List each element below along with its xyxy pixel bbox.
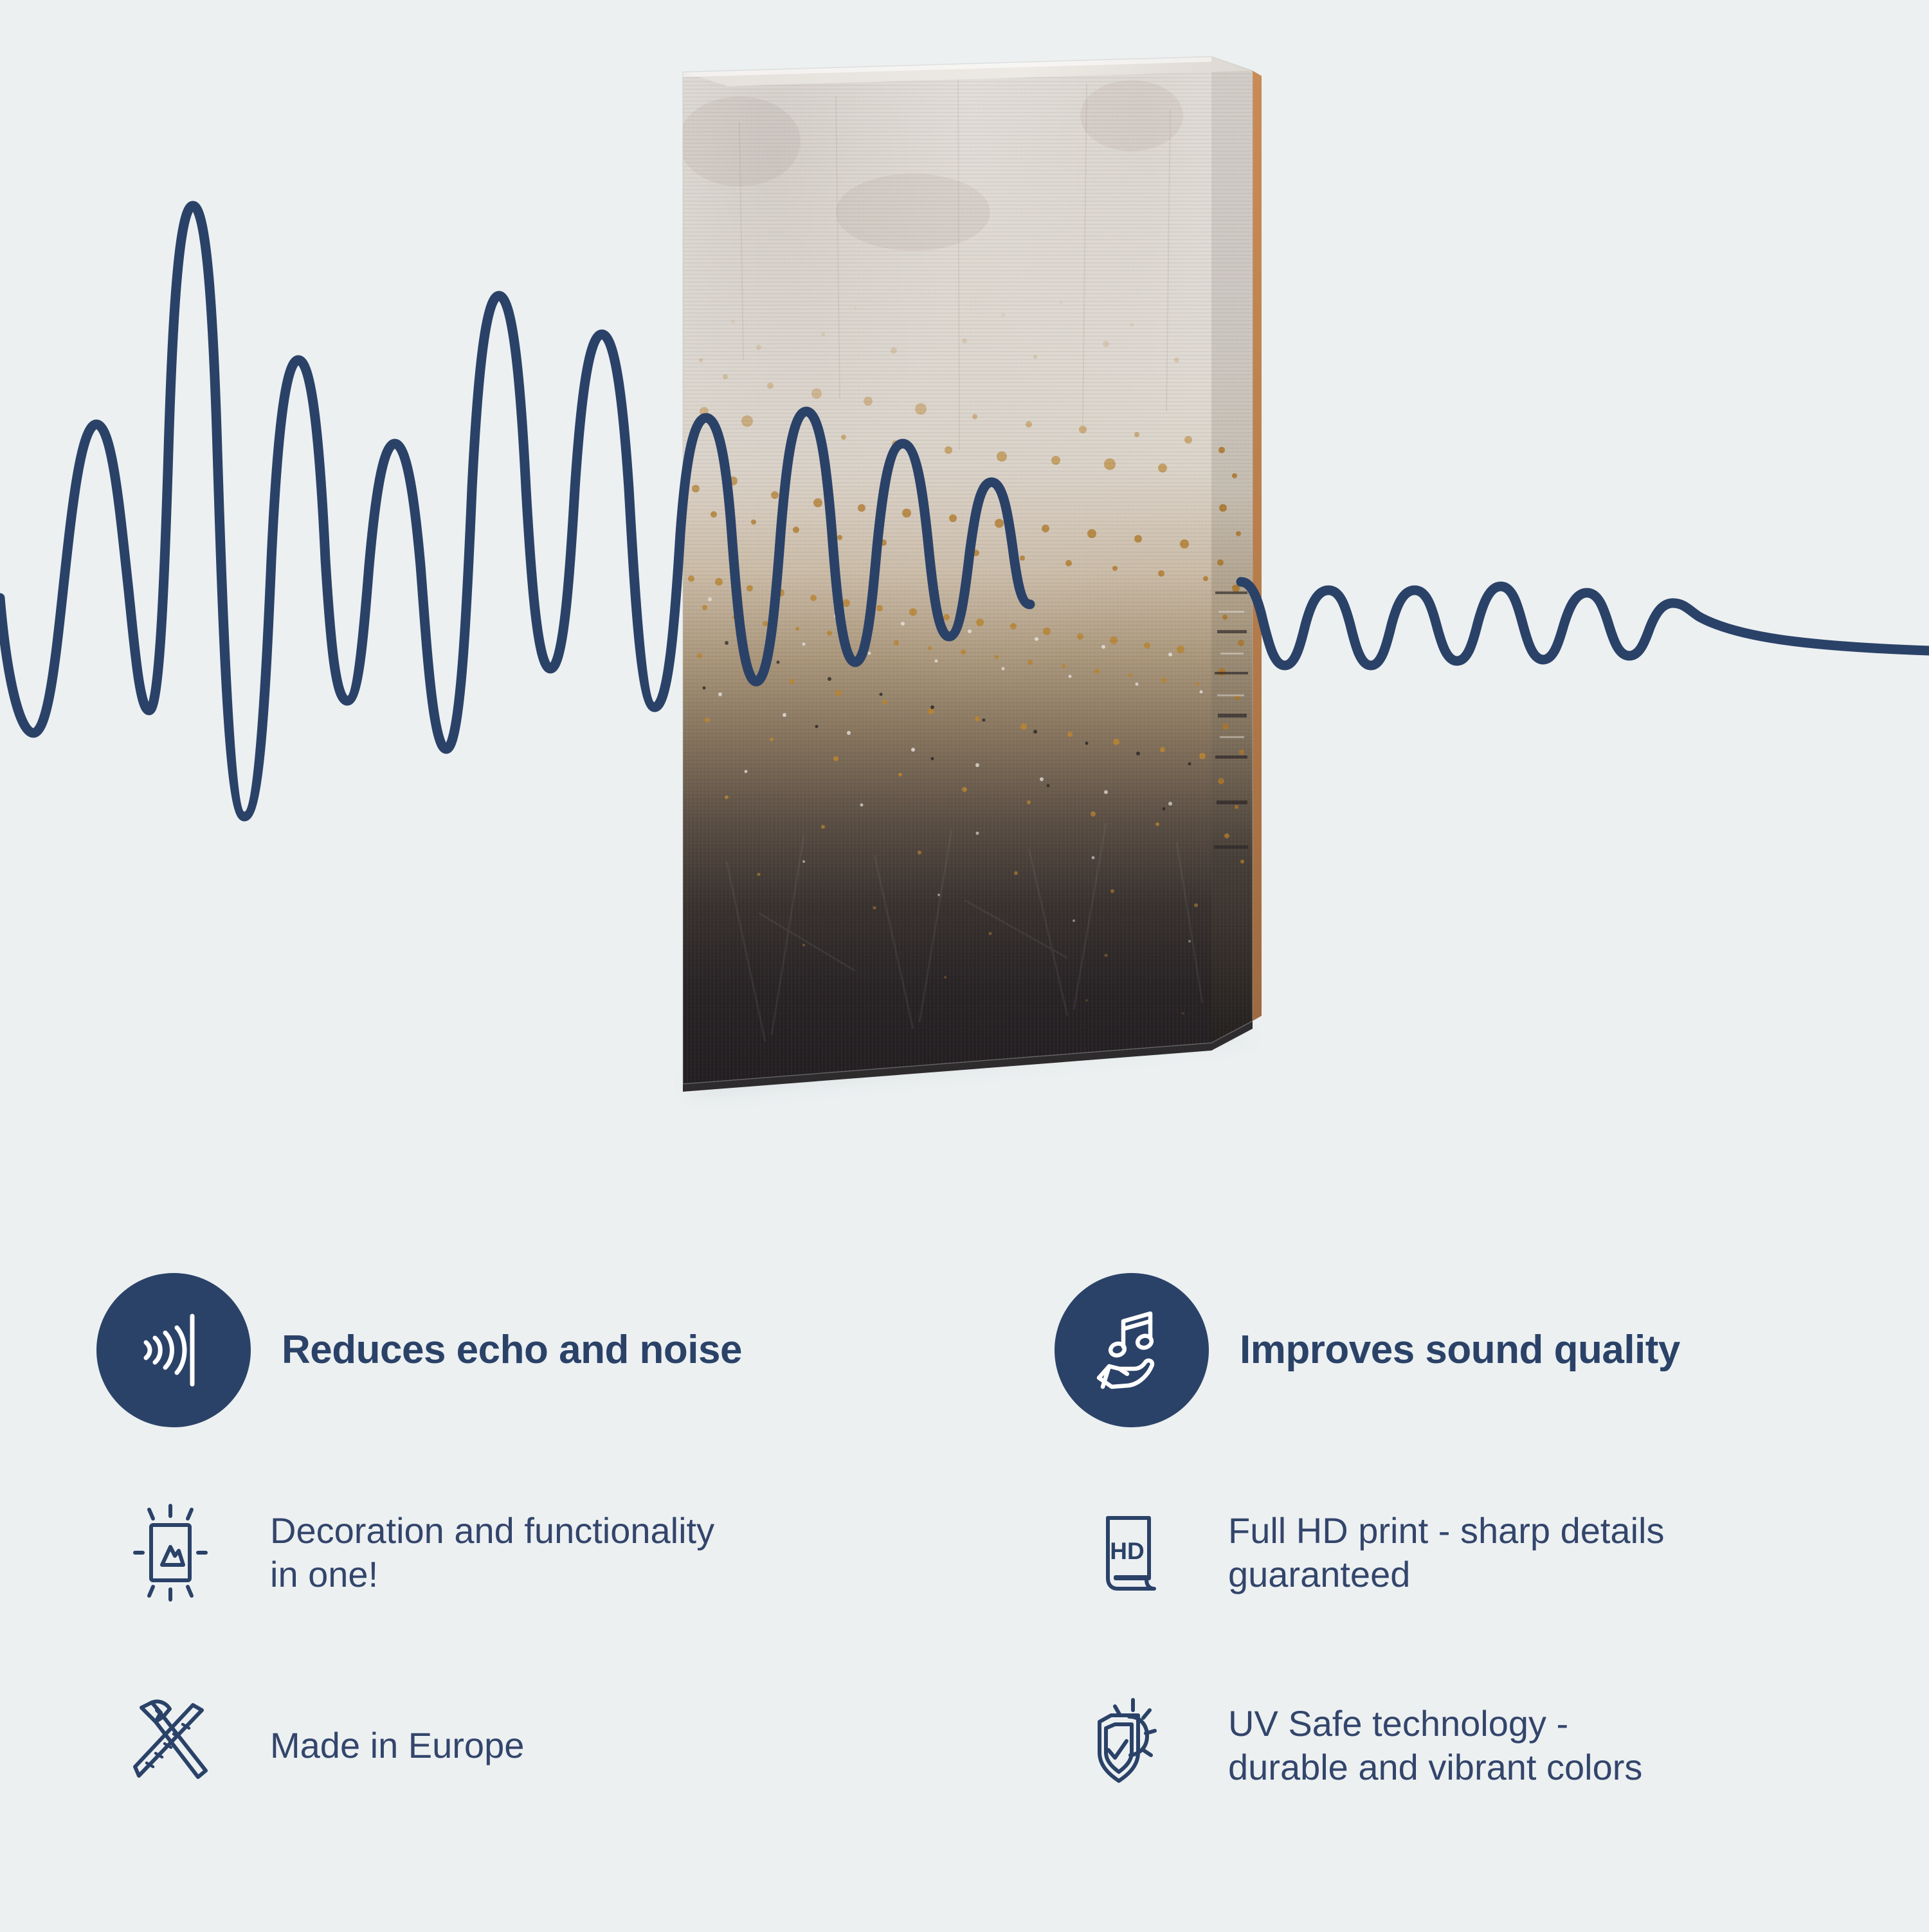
hand-music-note-icon <box>1083 1302 1180 1398</box>
feature-decoration-functionality: Decoration and functionality in one! <box>96 1456 1055 1649</box>
feature-list: Reduces echo and noise <box>96 1244 1858 1842</box>
hd-print-wrap: HD <box>1055 1479 1202 1627</box>
feature-label-reduces-echo: Reduces echo and noise <box>282 1329 742 1371</box>
hd-print-icon: HD <box>1077 1501 1180 1604</box>
feature-improves-sound: Improves sound quality <box>1055 1244 1858 1456</box>
hand-music-note-badge <box>1055 1273 1209 1427</box>
feature-label-line: UV Safe technology - <box>1228 1702 1642 1746</box>
sound-waves-icon <box>125 1302 222 1398</box>
feature-label-line: Full HD print - sharp details <box>1228 1509 1664 1553</box>
ruler-hammer-icon <box>116 1691 225 1800</box>
shining-picture-frame-icon <box>116 1498 225 1607</box>
shield-sun-icon <box>1074 1691 1183 1800</box>
ruler-hammer-wrap <box>96 1672 244 1819</box>
feature-label-made-in-europe: Made in Europe <box>270 1724 524 1767</box>
shining-picture-frame-wrap <box>96 1479 244 1627</box>
feature-label-line: Made in Europe <box>270 1724 524 1767</box>
feature-made-in-europe: Made in Europe <box>96 1649 1055 1842</box>
feature-full-hd-print: HD Full HD print - sharp details guarant… <box>1055 1456 1858 1649</box>
feature-label-uv-safe: UV Safe technology - durable and vibrant… <box>1228 1702 1642 1790</box>
shield-sun-wrap <box>1055 1672 1202 1819</box>
feature-label-line: durable and vibrant colors <box>1228 1746 1642 1789</box>
sound-waves-badge <box>96 1273 251 1427</box>
feature-reduces-echo: Reduces echo and noise <box>96 1244 1055 1456</box>
hd-badge-text: HD <box>1110 1538 1144 1564</box>
infographic-canvas: Reduces echo and noise <box>0 0 1929 1929</box>
feature-label-line: guaranteed <box>1228 1553 1664 1596</box>
feature-uv-safe: UV Safe technology - durable and vibrant… <box>1055 1649 1858 1842</box>
stretcher-wood-edge <box>1253 71 1262 1021</box>
feature-label-full-hd-print: Full HD print - sharp details guaranteed <box>1228 1509 1664 1597</box>
canvas-front-face <box>675 51 1228 1093</box>
feature-label-decoration-functionality: Decoration and functionality in one! <box>270 1509 714 1597</box>
feature-label-line: Decoration and functionality <box>270 1509 714 1553</box>
feature-label-improves-sound: Improves sound quality <box>1240 1329 1680 1371</box>
feature-label-line: in one! <box>270 1553 714 1596</box>
